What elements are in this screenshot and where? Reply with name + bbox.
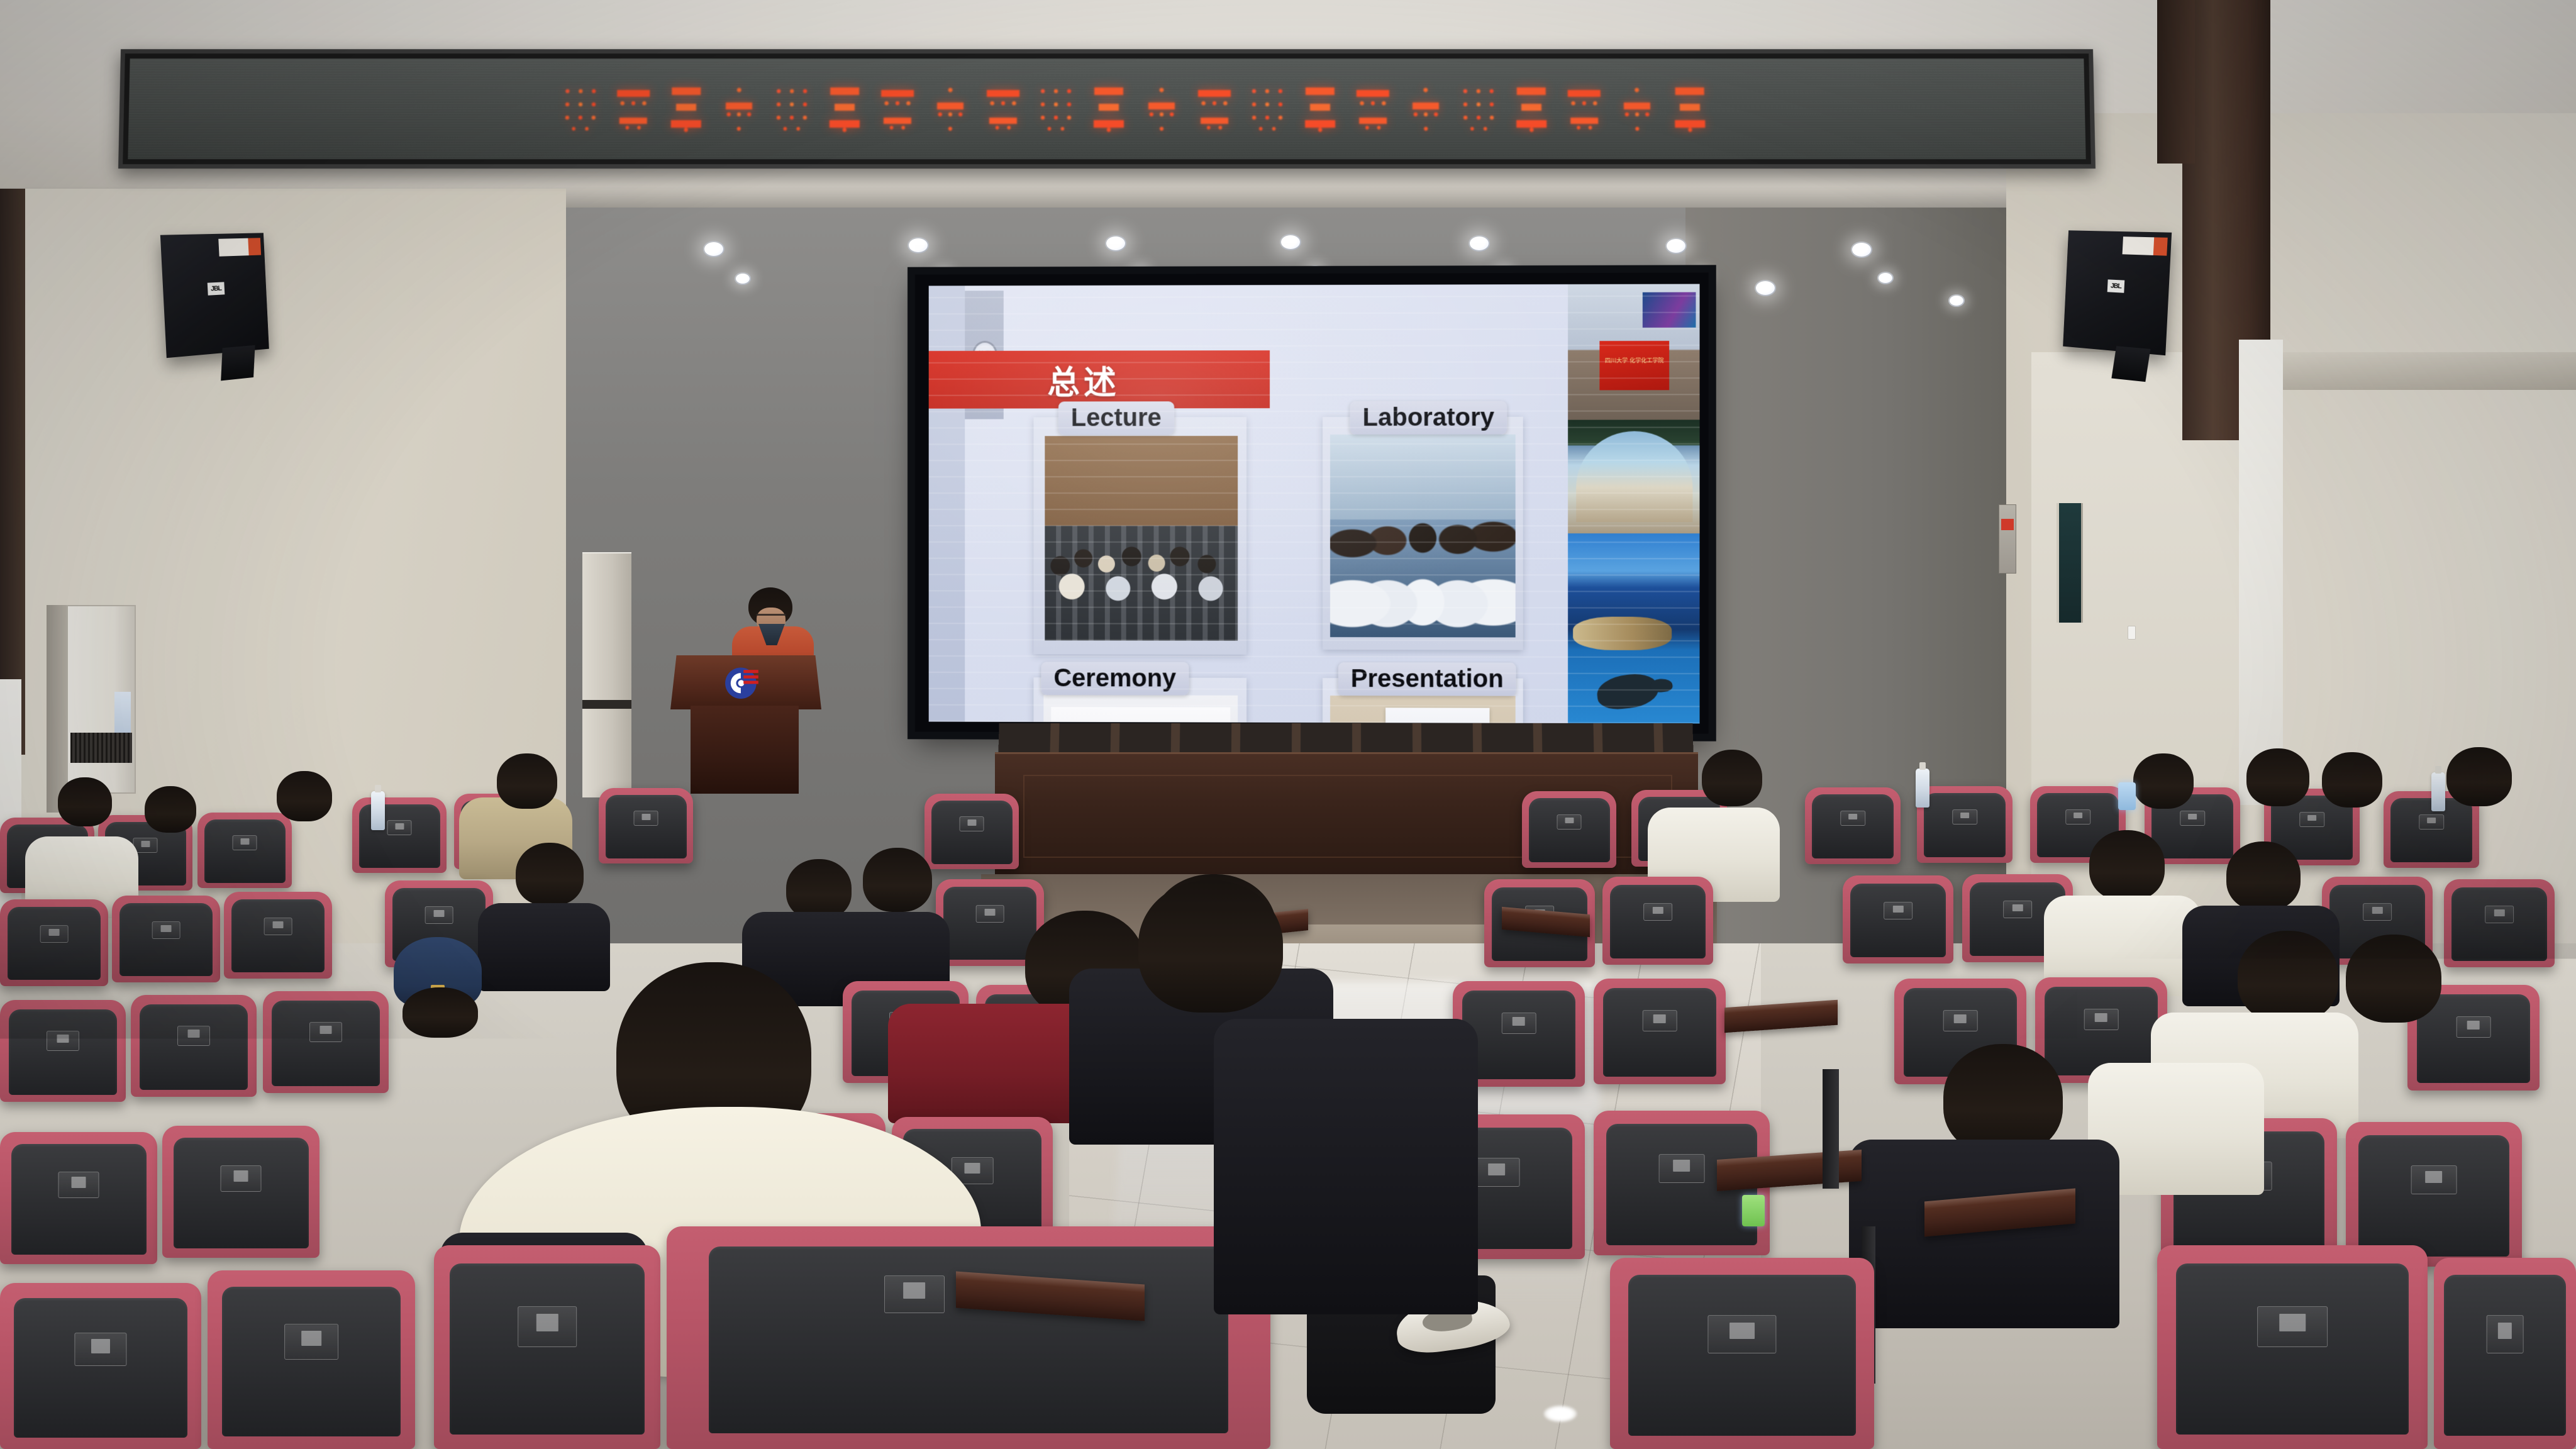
seat-pedestal [1824, 1301, 1845, 1449]
audience-head [2089, 830, 2165, 901]
jbl-logo: JBL [208, 282, 225, 296]
air-conditioner-side [47, 605, 69, 813]
foreground-right-head [1138, 880, 1283, 1013]
phone-screen [2118, 782, 2136, 810]
speaker-mount-bracket [2112, 346, 2151, 382]
seat[interactable] [112, 896, 220, 982]
light-switch[interactable] [2128, 626, 2136, 640]
seat-foreground[interactable] [667, 1226, 1270, 1449]
audience-body [478, 903, 610, 991]
presentation-slide: 校徽 总述 Lecture Laboratory [929, 284, 1700, 723]
wall-speaker-right: JBL [2063, 230, 2172, 355]
slide-surface: 校徽 总述 Lecture Laboratory [929, 284, 1700, 723]
seat-pedestal [1823, 1069, 1839, 1189]
audience-head [1943, 1044, 2063, 1155]
podium-base [691, 706, 799, 794]
ceiling-downlight [1665, 238, 1687, 254]
led-glyph [1407, 81, 1445, 136]
ceiling-downlight [1851, 241, 1872, 258]
left-door-frame [0, 189, 25, 755]
audience-head [2446, 747, 2512, 806]
photo-label-ceremony: Ceremony [1041, 662, 1189, 695]
photo-label-laboratory: Laboratory [1350, 401, 1507, 435]
jbl-logo: JBL [2107, 280, 2125, 293]
led-glyph [1566, 81, 1603, 136]
seat[interactable] [162, 1126, 319, 1258]
photo-label-lecture: Lecture [1058, 401, 1174, 435]
seat[interactable] [2444, 879, 2555, 967]
water-bottle [1916, 769, 1929, 808]
ceiling-downlight [908, 237, 929, 253]
phone-screen [2214, 1321, 2243, 1360]
ceiling-downlight [1280, 234, 1301, 250]
led-glyph [826, 81, 863, 136]
led-glyph [1302, 81, 1338, 136]
seat[interactable] [131, 995, 257, 1097]
ceiling-downlight [1948, 294, 1965, 307]
photo-frame-laboratory [1323, 417, 1523, 650]
seat[interactable] [1843, 875, 1953, 963]
seat[interactable] [2434, 1258, 2576, 1449]
projection-screen: 校徽 总述 Lecture Laboratory [915, 272, 1709, 733]
led-glyph [562, 81, 599, 136]
seat[interactable] [1602, 877, 1713, 965]
podium-group [670, 585, 821, 792]
led-glyph [1619, 81, 1656, 136]
seat[interactable] [263, 991, 389, 1093]
foreground-right-body [1214, 1019, 1478, 1314]
wall-control-panel[interactable] [1999, 504, 2016, 574]
audience-head [516, 843, 584, 906]
photo-label-presentation: Presentation [1338, 662, 1516, 696]
seat[interactable] [1917, 786, 2012, 863]
led-glyph [1460, 81, 1497, 136]
audience-head [2322, 752, 2382, 808]
led-glyph [1091, 81, 1127, 136]
speaker-label-sticker [218, 238, 261, 257]
university-crest-logo [723, 663, 762, 702]
side-cabinet [582, 552, 631, 797]
audience-head [863, 848, 932, 912]
led-text [128, 58, 2085, 159]
led-glyph [1143, 81, 1180, 136]
seat[interactable] [208, 1270, 415, 1449]
audience-head [402, 987, 478, 1038]
led-glyph [1671, 81, 1708, 136]
led-glyph [1355, 81, 1391, 136]
uwa-logo-row [1052, 708, 1230, 724]
seat[interactable] [0, 1132, 157, 1264]
right-wall-niche [2057, 503, 2083, 623]
seat[interactable] [0, 899, 108, 986]
ceiling-downlight [1468, 235, 1490, 252]
seat[interactable] [0, 1283, 201, 1449]
seat[interactable] [352, 797, 447, 873]
air-conditioner-unit [67, 605, 136, 794]
audience-body [1874, 1252, 2163, 1449]
seat[interactable] [224, 892, 332, 979]
audience-head [497, 753, 557, 809]
photo-ceremony: 四川大学 化学化工学院 [1043, 695, 1238, 723]
ceiling-downlight [1755, 280, 1776, 296]
audience-head [2346, 935, 2441, 1023]
seat[interactable] [0, 1000, 126, 1102]
audience-head [145, 786, 196, 833]
photo-frame-lecture [1033, 417, 1246, 655]
audience-head [2238, 931, 2338, 1023]
wood-column-right-upper [2157, 0, 2195, 164]
seat[interactable] [1522, 791, 1616, 868]
phone-screen [1742, 1195, 1765, 1226]
seat[interactable] [924, 794, 1019, 869]
ceiling-downlight [735, 272, 751, 285]
led-glyph [985, 81, 1021, 136]
led-scrolling-banner [118, 49, 2096, 169]
speaker-label-sticker [2123, 236, 2168, 255]
photo-laboratory [1330, 435, 1516, 638]
seat[interactable] [197, 813, 292, 888]
photo-lecture [1045, 436, 1238, 641]
right-window [2239, 340, 2283, 805]
slide-title-banner: 总述 [929, 350, 1270, 409]
audience-head [2226, 841, 2301, 911]
audience-head [58, 777, 112, 826]
audience-head [277, 771, 332, 821]
wall-speaker-left: JBL [160, 233, 269, 358]
led-glyph [879, 81, 916, 136]
nested-projector-slide: Thanks for listening [1385, 708, 1489, 724]
led-glyph [1196, 81, 1233, 136]
ceiling-downlight [1105, 235, 1126, 252]
glasses-icon [756, 614, 786, 619]
led-glyph [1038, 81, 1074, 136]
speaker-mount-bracket [221, 345, 255, 381]
led-glyph [615, 81, 652, 136]
floor-light-reflection [1544, 1406, 1577, 1422]
water-bottle [2431, 772, 2445, 811]
auditorium-photo: JBL JBL 校徽 总述 Lecture [0, 0, 2576, 1449]
slide-title-text: 总述 [1047, 356, 1119, 403]
led-glyph [668, 81, 705, 136]
audience-head [2246, 748, 2309, 806]
travel-photo-beach-arch [1568, 419, 1699, 533]
travel-photo-sea-lion [1568, 533, 1699, 723]
ceiling-downlight [703, 241, 724, 257]
audience-head [2133, 753, 2194, 809]
seat[interactable] [434, 1245, 660, 1449]
travel-photo-airport-departure: 四川大学 化学化工学院 [1568, 284, 1699, 419]
seat[interactable] [599, 788, 693, 863]
led-glyph [721, 81, 758, 136]
right-soffit [2264, 352, 2576, 390]
stage-rail [998, 723, 1694, 756]
water-bottle [371, 791, 385, 830]
photo-presentation: Thanks for listening [1330, 696, 1516, 723]
seat[interactable] [1594, 979, 1726, 1084]
led-glyph [1513, 81, 1550, 136]
seat[interactable] [1805, 787, 1901, 864]
led-glyph [1249, 81, 1285, 136]
travel-banner-text: 四川大学 化学化工学院 [1605, 356, 1664, 364]
ceiling-downlight [1877, 272, 1894, 284]
audience-head [786, 859, 852, 919]
led-glyph [932, 81, 969, 136]
audience-head [1702, 750, 1762, 806]
led-screen [128, 58, 2085, 159]
led-glyph [774, 81, 811, 136]
